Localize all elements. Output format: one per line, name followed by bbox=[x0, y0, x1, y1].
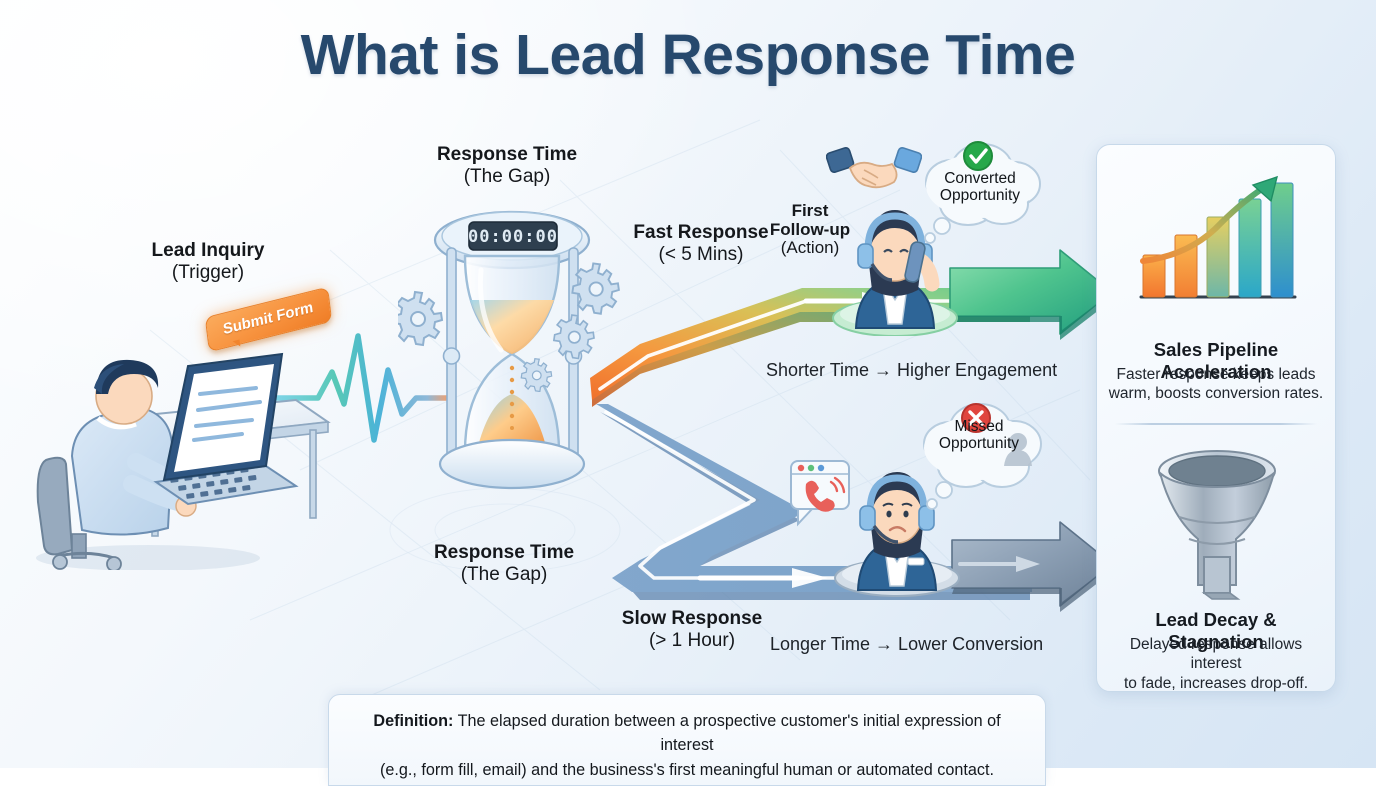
outcomes-panel: Sales Pipeline Acceleration Faster respo… bbox=[1096, 144, 1336, 692]
missed-call-icon bbox=[788, 458, 854, 532]
outcome-2-desc-line2: to fade, increases drop-off. bbox=[1124, 675, 1308, 692]
outcome-1-desc: Faster response keeps leads warm, boosts… bbox=[1107, 365, 1325, 404]
outcome-2-desc-line1: Delayed response allows interest bbox=[1130, 636, 1302, 672]
response-time-top-subtitle: (The Gap) bbox=[403, 166, 611, 188]
infographic-canvas: What is Lead Response Time bbox=[0, 0, 1376, 768]
handshake-icon bbox=[826, 140, 922, 200]
missed-line1: Missed bbox=[954, 418, 1003, 435]
response-time-top-title: Response Time bbox=[403, 144, 611, 166]
gear-icons bbox=[398, 262, 628, 392]
hourglass-timer: 00:00:00 bbox=[468, 227, 558, 247]
response-time-top-label: Response Time (The Gap) bbox=[403, 144, 611, 188]
definition-line2: (e.g., form fill, email) and the busines… bbox=[380, 761, 994, 779]
lead-inquiry-title: Lead Inquiry bbox=[104, 240, 312, 262]
converted-line2: Opportunity bbox=[940, 187, 1020, 204]
response-time-bottom-title: Response Time bbox=[400, 542, 608, 564]
panel-divider bbox=[1115, 423, 1317, 425]
definition-box: Definition: The elapsed duration between… bbox=[328, 694, 1046, 786]
outcome-1-desc-line2: warm, boosts conversion rates. bbox=[1109, 385, 1324, 402]
outcome-1-desc-line1: Faster response keeps leads bbox=[1116, 366, 1315, 383]
outcome-2-desc: Delayed response allows interest to fade… bbox=[1107, 635, 1325, 693]
lead-inquiry-subtitle: (Trigger) bbox=[104, 262, 312, 284]
lead-inquiry-label: Lead Inquiry (Trigger) bbox=[104, 240, 312, 284]
response-time-bottom-subtitle: (The Gap) bbox=[400, 564, 608, 586]
slow-response-label: Slow Response (> 1 Hour) bbox=[604, 608, 780, 652]
funnel-icon bbox=[1153, 445, 1281, 601]
slow-response-subtitle: (> 1 Hour) bbox=[604, 630, 780, 652]
converted-opportunity-text: Converted Opportunity bbox=[910, 170, 1050, 205]
missed-opportunity-bubble bbox=[908, 398, 1050, 516]
missed-line2: Opportunity bbox=[939, 435, 1019, 452]
definition-line1: The elapsed duration between a prospecti… bbox=[453, 712, 1000, 754]
definition-text: Definition: The elapsed duration between… bbox=[329, 709, 1045, 782]
growth-bar-chart-icon bbox=[1129, 169, 1305, 321]
definition-label: Definition: bbox=[373, 712, 453, 730]
converted-line1: Converted bbox=[944, 170, 1016, 187]
response-time-bottom-label: Response Time (The Gap) bbox=[400, 542, 608, 586]
fast-path-caption: Shorter Time → Higher Engagement bbox=[766, 360, 1057, 381]
missed-opportunity-text: Missed Opportunity bbox=[908, 418, 1050, 453]
slow-response-title: Slow Response bbox=[604, 608, 780, 630]
slow-path-caption: Longer Time → Lower Conversion bbox=[770, 634, 1043, 655]
